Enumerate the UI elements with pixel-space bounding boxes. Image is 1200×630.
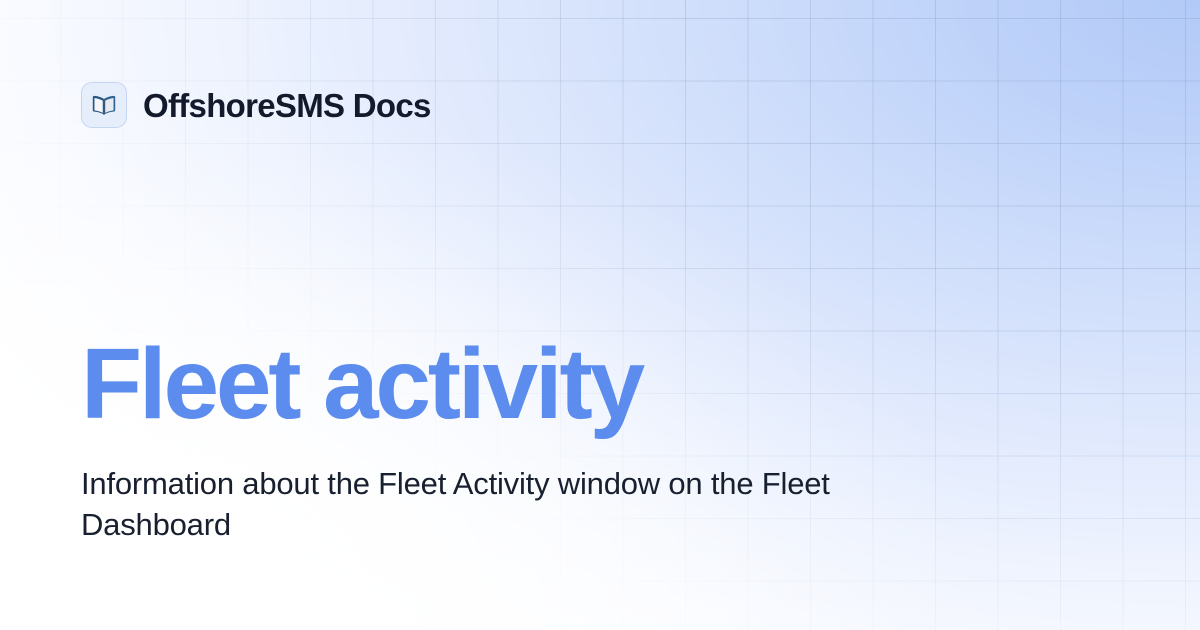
hero-block: Fleet activity Information about the Fle… [81, 333, 981, 545]
page-title: Fleet activity [81, 333, 981, 435]
brand-title: OffshoreSMS Docs [143, 89, 431, 122]
brand-row: OffshoreSMS Docs [81, 82, 431, 128]
og-card: OffshoreSMS Docs Fleet activity Informat… [0, 0, 1200, 630]
page-subtitle: Information about the Fleet Activity win… [81, 463, 841, 545]
open-book-icon [81, 82, 127, 128]
